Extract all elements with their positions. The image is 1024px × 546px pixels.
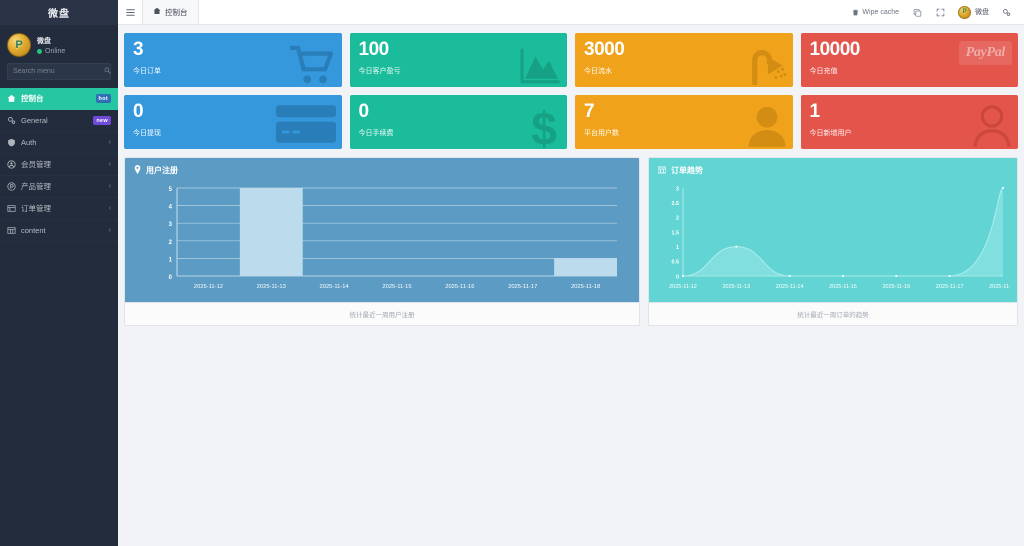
svg-text:3: 3: [676, 186, 679, 192]
user-outline-icon: [972, 105, 1012, 147]
sidebar-item-label: 产品管理: [21, 181, 104, 192]
chevron-left-icon: ‹: [109, 161, 111, 168]
chart-order-trend[interactable]: 00.511.522.532025-11-122025-11-132025-11…: [649, 180, 1017, 302]
dollar-icon: $: [527, 105, 561, 149]
avatar: P: [958, 6, 971, 19]
dashboard-icon: [7, 94, 16, 103]
panel-footer: 统计最近一周订单的趋势: [649, 302, 1017, 325]
main-area: 控制台 Wipe cache: [118, 0, 1024, 546]
wipe-cache-label: Wipe cache: [862, 9, 899, 16]
svg-text:2025-11-17: 2025-11-17: [508, 284, 537, 290]
svg-text:$: $: [531, 105, 557, 149]
language-button[interactable]: [906, 0, 929, 25]
dashboard-icon: [153, 7, 161, 17]
svg-text:2025-11-13: 2025-11-13: [722, 284, 750, 290]
svg-text:2025-11-15: 2025-11-15: [829, 284, 857, 290]
panel-order-trend: 订单趋势 00.511.522.532025-11-122025-11-1320…: [648, 157, 1018, 326]
svg-text:2.5: 2.5: [672, 201, 680, 207]
sidebar-item-label: General: [21, 116, 88, 125]
chevron-left-icon: ‹: [109, 139, 111, 146]
product-icon: [7, 182, 16, 191]
topbar-user-name: 微盘: [975, 7, 989, 17]
topbar-spacer: [199, 0, 846, 24]
sidebar-user-name: 微盘: [37, 36, 65, 46]
grid-icon: [658, 166, 666, 176]
sidebar-search-wrap: [0, 63, 118, 88]
svg-text:2025-11-17: 2025-11-17: [936, 284, 964, 290]
tab-dashboard[interactable]: 控制台: [142, 0, 199, 24]
topbar-user-menu[interactable]: P 微盘: [952, 6, 995, 19]
stat-label: 今日充值: [810, 66, 1010, 76]
svg-text:2025-11-16: 2025-11-16: [882, 284, 910, 290]
app-root: 微盘 P 微盘 Online: [0, 0, 1024, 546]
stat-card-today-turnover[interactable]: 3000 今日流水: [575, 33, 793, 87]
svg-text:2025-11-14: 2025-11-14: [320, 284, 350, 290]
stat-card-today-withdraw[interactable]: 0 今日提现: [124, 95, 342, 149]
fullscreen-button[interactable]: [929, 0, 952, 25]
sidebar-badge-hot: hot: [96, 94, 111, 103]
expand-icon: [936, 8, 945, 17]
svg-text:0: 0: [169, 275, 173, 281]
sidebar-item-label: 控制台: [21, 93, 91, 104]
grid-icon: [7, 226, 16, 235]
svg-text:5: 5: [169, 187, 173, 193]
svg-text:2025-11-15: 2025-11-15: [382, 284, 411, 290]
stat-card-today-customer-pnl[interactable]: 100 今日客户盈亏: [350, 33, 568, 87]
sidebar-item-products[interactable]: 产品管理 ‹: [0, 176, 118, 198]
credit-card-icon: [276, 105, 336, 143]
stat-cards-row-1: 3 今日订单 100 今日客户盈亏 3000 今日流水: [124, 33, 1018, 87]
stat-cards-row-2: 0 今日提现 0 今日手续费 $ 7 平台用户数: [124, 95, 1018, 149]
svg-text:2025-11-16: 2025-11-16: [445, 284, 474, 290]
map-pin-icon: [134, 165, 141, 176]
sidebar-item-orders[interactable]: 订单管理 ‹: [0, 198, 118, 220]
stat-card-today-orders[interactable]: 3 今日订单: [124, 33, 342, 87]
stat-card-new-users[interactable]: 1 今日新增用户: [801, 95, 1019, 149]
panel-header: 订单趋势: [649, 158, 1017, 180]
panel-user-registration: 用户注册 0123452025-11-122025-11-132025-11-1…: [124, 157, 640, 326]
chart-user-registration[interactable]: 0123452025-11-122025-11-132025-11-142025…: [125, 180, 639, 302]
svg-text:3: 3: [169, 222, 173, 228]
svg-text:4: 4: [169, 205, 173, 211]
bar-chart-svg: 0123452025-11-122025-11-132025-11-142025…: [125, 180, 639, 302]
stat-card-today-recharge[interactable]: 10000 今日充值 PayPal: [801, 33, 1019, 87]
sidebar-item-content[interactable]: content ‹: [0, 220, 118, 242]
user-icon: [747, 105, 787, 147]
wipe-cache-button[interactable]: Wipe cache: [845, 0, 906, 25]
topbar-actions: Wipe cache P 微盘: [845, 0, 1024, 24]
svg-text:2025-11-12: 2025-11-12: [669, 284, 697, 290]
search-input[interactable]: [13, 68, 104, 75]
sidebar-item-general[interactable]: General new: [0, 110, 118, 132]
sidebar-menu: 控制台 hot General new Auth ‹: [0, 88, 118, 242]
shopping-cart-icon: [290, 45, 336, 85]
sidebar-item-members[interactable]: 会员管理 ‹: [0, 154, 118, 176]
svg-text:2025-11-14: 2025-11-14: [776, 284, 804, 290]
svg-text:1: 1: [676, 245, 679, 251]
paypal-icon: PayPal: [959, 41, 1012, 65]
panel-title: 用户注册: [146, 165, 178, 176]
panel-header: 用户注册: [125, 158, 639, 180]
gear-icon: [7, 116, 16, 125]
stat-card-platform-users[interactable]: 7 平台用户数: [575, 95, 793, 149]
area-chart-icon: [519, 47, 561, 85]
svg-text:2025-11-12: 2025-11-12: [194, 284, 223, 290]
sidebar-item-label: 会员管理: [21, 159, 104, 170]
topbar: 控制台 Wipe cache: [118, 0, 1024, 25]
sidebar-item-label: 订单管理: [21, 203, 104, 214]
sidebar-user-status: Online: [37, 48, 65, 55]
panel-title: 订单趋势: [671, 165, 703, 176]
svg-text:2025-11-13: 2025-11-13: [257, 284, 286, 290]
chevron-left-icon: ‹: [109, 227, 111, 234]
chart-panels-row: 用户注册 0123452025-11-122025-11-132025-11-1…: [124, 157, 1018, 326]
svg-text:2: 2: [169, 240, 173, 246]
sidebar-item-label: Auth: [21, 138, 104, 147]
svg-text:1.5: 1.5: [672, 230, 680, 236]
avatar: P: [7, 33, 31, 57]
settings-button[interactable]: [995, 0, 1018, 25]
svg-text:2: 2: [676, 216, 679, 222]
area-chart-svg: 00.511.522.532025-11-122025-11-132025-11…: [649, 180, 1011, 302]
brand-title: 微盘: [0, 0, 118, 25]
svg-text:2025-11-18: 2025-11-18: [571, 284, 600, 290]
shield-icon: [7, 138, 16, 147]
svg-text:0: 0: [676, 274, 679, 280]
search-icon[interactable]: [104, 67, 111, 76]
svg-text:2025-11-18: 2025-11-18: [989, 284, 1011, 290]
hamburger-icon[interactable]: [118, 0, 142, 24]
sidebar-item-label: content: [21, 226, 104, 235]
gear-icon: [1002, 8, 1011, 17]
chevron-left-icon: ‹: [109, 183, 111, 190]
sidebar-user-meta: 微盘 Online: [37, 36, 65, 55]
user-circle-icon: [7, 160, 16, 169]
panel-footer: 统计最近一周用户注册: [125, 302, 639, 325]
dashboard-content: 3 今日订单 100 今日客户盈亏 3000 今日流水: [118, 25, 1024, 546]
list-icon: [7, 204, 16, 213]
trash-icon: [852, 9, 859, 16]
stat-card-today-fee[interactable]: 0 今日手续费 $: [350, 95, 568, 149]
status-label: Online: [45, 48, 65, 55]
shower-icon: [743, 45, 787, 85]
sidebar-user-profile[interactable]: P 微盘 Online: [0, 25, 118, 63]
sidebar-item-dashboard[interactable]: 控制台 hot: [0, 88, 118, 110]
svg-text:0.5: 0.5: [672, 260, 680, 266]
chevron-left-icon: ‹: [109, 205, 111, 212]
tab-label: 控制台: [165, 7, 188, 18]
sidebar: 微盘 P 微盘 Online: [0, 0, 118, 546]
sidebar-item-auth[interactable]: Auth ‹: [0, 132, 118, 154]
status-dot-icon: [37, 49, 42, 54]
language-icon: [913, 8, 922, 17]
svg-text:1: 1: [169, 257, 173, 263]
sidebar-badge-new: new: [93, 116, 111, 125]
search-box[interactable]: [7, 63, 111, 80]
